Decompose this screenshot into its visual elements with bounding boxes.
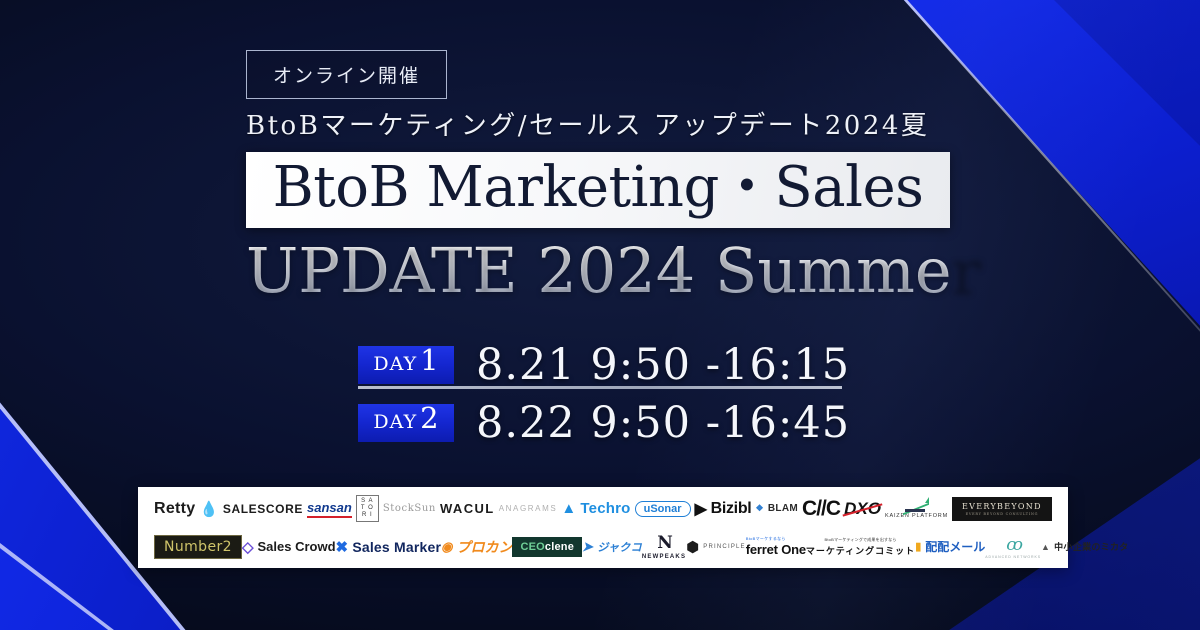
sponsor-name-marketing-commit: マーケティングコミット <box>806 544 915 557</box>
day2-datetime: 8.22 9:50 -16:45 <box>476 402 850 445</box>
sponsor-sub-marketing-commit: BtoBマーケティングで成果を出すなら <box>824 537 896 543</box>
sponsor-name-principle: PRINCIPLE <box>703 544 745 550</box>
sponsor-name-bizibl: Bizibl <box>711 500 752 518</box>
sponsor-logo-retty: Retty <box>154 500 196 518</box>
sponsor-logo-cinc: C//C <box>802 497 840 521</box>
stack-icon: ◇ <box>242 538 254 556</box>
sponsor-logo-chusho-kigyo-no-mikata: ▲ 中小企業のミカタ <box>1041 540 1129 553</box>
sponsor-name-kaizen-platform: KAIZEN PLATFORM <box>885 513 948 519</box>
sponsor-name-ferret-one: ferret One <box>746 542 806 557</box>
sponsor-logo-sales-crowd: ◇ Sales Crowd <box>242 538 336 556</box>
sponsor-name-sales-crowd: Sales Crowd <box>258 539 336 554</box>
sponsor-logo-haihai-mail: ▮ 配配メール <box>915 538 985 555</box>
sponsor-logo-techro: ▲ Techro <box>561 500 630 517</box>
pin-icon: ✖ <box>336 538 349 556</box>
sponsor-logo-number2: Number2 <box>154 535 242 559</box>
sponsor-name-jakuko: ジャクコ <box>597 539 642 555</box>
sponsor-logo-ceoclene: CEOclene <box>512 537 582 557</box>
sponsor-logo-newpeaks: N NEWPEAKS <box>642 533 686 560</box>
sponsor-logo-wacul: WACUL <box>440 501 495 516</box>
day-badge-1: DAY 1 <box>358 346 454 384</box>
sponsor-sub-everybeyond: EVERY BEYOND CONSULTING <box>966 512 1039 516</box>
peak-icon: N <box>657 533 671 553</box>
sponsor-name-cinc: C//C <box>802 497 840 521</box>
chart-icon: ▲ <box>1041 542 1050 552</box>
event-title-second: UPDATE 2024 Summer <box>246 240 952 302</box>
sponsor-logo-sansan: sansan <box>307 500 352 518</box>
sponsor-row-2: Number2 ◇ Sales Crowd ✖ Sales Marker ◉ プ… <box>148 528 1058 566</box>
sponsor-logo-sales-marker: ✖ Sales Marker <box>336 538 442 556</box>
sponsor-name-dxo: DXO <box>844 499 881 519</box>
sponsor-name-stocksun: StockSun <box>383 503 436 514</box>
sponsor-logo-advanced-networks: co ADVANCED NETWORKS <box>985 535 1041 559</box>
sponsor-logo-dxo: DXO <box>844 499 881 519</box>
sponsor-name-ceoclene: CEOclene <box>512 537 582 557</box>
day-label: DAY <box>373 411 417 433</box>
schedule-divider <box>358 386 842 389</box>
sponsor-name-salescore: SALESCORE <box>223 502 303 516</box>
event-title-panel: BtoB Marketing・Sales <box>246 152 950 228</box>
sponsor-logo-ferret-one: BtoBマーケするなら ferret One <box>746 536 806 557</box>
event-title-main: BtoB Marketing・Sales <box>273 160 924 216</box>
sponsor-name-anagrams: ANAGRAMS <box>499 504 558 513</box>
swirl-icon: ◉ <box>441 539 452 555</box>
sponsor-logo-salescore: 💧 SALESCORE <box>200 500 303 518</box>
play-icon: ▶ <box>695 499 707 519</box>
sponsor-name-sansan: sansan <box>307 500 352 518</box>
schedule-row-day2: DAY 2 8.22 9:50 -16:45 <box>358 398 848 448</box>
sponsor-logo-purokan: ◉ プロカン <box>441 537 512 557</box>
sponsor-name-retty: Retty <box>154 500 196 518</box>
day1-datetime: 8.21 9:50 -16:15 <box>476 344 850 387</box>
schedule-list: DAY 1 8.21 9:50 -16:15 DAY 2 8.22 9:50 -… <box>358 340 848 448</box>
sponsor-logo-bizibl: ▶ Bizibl <box>695 499 752 519</box>
sponsor-logo-stocksun: StockSun <box>383 503 436 514</box>
sponsor-logo-strip: Retty 💧 SALESCORE sansan S AT OR I Stock… <box>138 487 1068 568</box>
sponsor-name-everybeyond: EVERYBEYOND <box>962 502 1042 511</box>
event-subtitle: BtoBマーケティング/セールス アップデート2024夏 <box>246 105 929 142</box>
sponsor-name-purokan: プロカン <box>456 537 512 557</box>
sponsor-name-techro: Techro <box>580 500 630 517</box>
sponsor-name-chusho-kigyo-no-mikata: 中小企業のミカタ <box>1054 540 1128 553</box>
sponsor-name-wacul: WACUL <box>440 501 495 516</box>
growth-arrow-icon <box>903 499 929 512</box>
hexagon-icon: ⬢ <box>686 538 699 556</box>
sponsor-name-newpeaks: NEWPEAKS <box>642 554 686 560</box>
sponsor-logo-everybeyond: EVERYBEYOND EVERY BEYOND CONSULTING <box>952 497 1052 521</box>
sponsor-logo-anagrams: ANAGRAMS <box>499 504 558 513</box>
sponsor-name-usonar: uSonar <box>635 501 691 517</box>
day-number: 1 <box>420 346 438 375</box>
key-visual-banner: オンライン開催 BtoBマーケティング/セールス アップデート2024夏 Bto… <box>0 0 1200 630</box>
sponsor-row-1: Retty 💧 SALESCORE sansan S AT OR I Stock… <box>148 490 1058 528</box>
ceoclene-prefix: CEO <box>520 541 544 553</box>
sponsor-logo-principle: ⬢ PRINCIPLE <box>686 538 746 556</box>
sponsor-name-satori: S AT OR I <box>356 495 379 522</box>
schedule-row-day1: DAY 1 8.21 9:50 -16:15 <box>358 340 848 390</box>
day-number: 2 <box>420 404 438 433</box>
day-badge-2: DAY 2 <box>358 404 454 442</box>
mountain-icon: ▲ <box>561 500 576 517</box>
sponsor-logo-satori: S AT OR I <box>356 495 379 522</box>
sponsor-logo-marketing-commit: BtoBマーケティングで成果を出すなら マーケティングコミット <box>806 537 915 557</box>
ceoclene-suffix: clene <box>545 541 574 553</box>
droplet-icon: 💧 <box>200 500 219 518</box>
mail-icon: ▮ <box>915 540 921 553</box>
sponsor-logo-blam: ❖ BLAM <box>756 503 798 514</box>
sponsor-logo-jakuko: ➤ ジャクコ <box>582 539 642 555</box>
sponsor-logo-usonar: uSonar <box>635 501 691 517</box>
sponsor-name-blam: BLAM <box>768 503 798 514</box>
sponsor-name-number2: Number2 <box>154 535 242 559</box>
gear-icon: ❖ <box>756 503 764 514</box>
sponsor-name-advanced-networks: ADVANCED NETWORKS <box>985 555 1041 559</box>
day-label: DAY <box>373 353 417 375</box>
paper-plane-icon: ➤ <box>582 539 593 555</box>
sponsor-name-haihai-mail: 配配メール <box>925 538 985 555</box>
sponsor-name-sales-marker: Sales Marker <box>352 539 441 555</box>
online-event-badge: オンライン開催 <box>246 50 447 99</box>
swirl-mark-icon: co <box>1006 535 1020 555</box>
sponsor-logo-kaizen-platform: KAIZEN PLATFORM <box>885 499 948 519</box>
